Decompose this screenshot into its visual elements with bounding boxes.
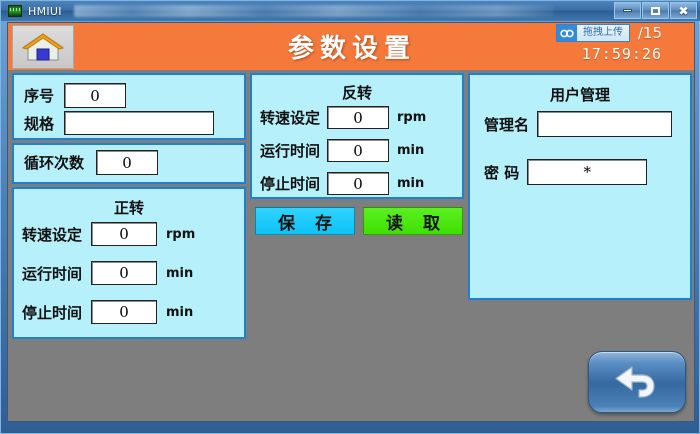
serial-number-input[interactable]: 0 (64, 83, 126, 108)
minimize-button[interactable] (614, 2, 641, 19)
save-button[interactable]: 保 存 (255, 207, 355, 235)
forward-rotation-title: 正转 (14, 197, 244, 218)
maximize-icon (651, 7, 660, 15)
close-button[interactable]: ✖ (670, 2, 697, 19)
window-title-secondary-blurred (74, 5, 554, 17)
panel-forward-rotation: 正转 转速设定 0 rpm 运行时间 0 min 停止时间 0 min (12, 187, 246, 339)
home-button[interactable] (12, 25, 74, 69)
baidu-cloud-icon (557, 25, 577, 41)
minimize-icon (623, 9, 632, 12)
reverse-runtime-input[interactable]: 0 (327, 139, 389, 162)
field-row-forward-stoptime: 停止时间 0 min (22, 300, 193, 324)
cycle-count-label: 循环次数 (24, 152, 84, 173)
drag-upload-label: 拖拽上传 (577, 25, 629, 41)
window-controls: ✖ (614, 2, 697, 19)
reverse-stoptime-label: 停止时间 (260, 173, 320, 194)
field-row-forward-runtime: 运行时间 0 min (22, 261, 193, 285)
forward-speed-input[interactable]: 0 (91, 222, 157, 246)
client-area: 参数设置 拖拽上传 /15 17:59:26 (7, 22, 695, 422)
hmi-header: 参数设置 拖拽上传 /15 17:59:26 (8, 23, 695, 70)
forward-runtime-input[interactable]: 0 (91, 261, 157, 285)
close-icon: ✖ (678, 5, 688, 17)
forward-speed-unit: rpm (166, 227, 195, 242)
field-row-password: 密 码 * (484, 159, 647, 185)
user-management-title: 用户管理 (470, 84, 690, 105)
clock: 17:59:26 (582, 45, 662, 63)
field-row-admin-name: 管理名 (484, 111, 672, 137)
maximize-button[interactable] (642, 2, 669, 19)
forward-stoptime-label: 停止时间 (22, 302, 82, 323)
reverse-runtime-unit: min (397, 143, 424, 158)
cycle-count-input[interactable]: 0 (96, 150, 158, 175)
field-row-cycle-count: 循环次数 0 (24, 150, 158, 175)
field-row-serial: 序号 0 (24, 83, 126, 108)
reverse-stoptime-input[interactable]: 0 (327, 172, 389, 195)
application-window: HMIUI ✖ 参数设置 (0, 0, 700, 434)
admin-name-input[interactable] (537, 111, 672, 137)
field-row-specification: 规格 (24, 111, 214, 135)
title-bar[interactable]: HMIUI ✖ (1, 1, 700, 21)
forward-speed-label: 转速设定 (22, 224, 82, 245)
panel-basic-info: 序号 0 规格 (12, 73, 246, 140)
field-row-reverse-speed: 转速设定 0 rpm (260, 106, 426, 129)
drag-upload-widget[interactable]: 拖拽上传 (556, 24, 630, 42)
page-indicator: /15 (638, 23, 662, 43)
specification-input[interactable] (64, 111, 214, 135)
reverse-runtime-label: 运行时间 (260, 140, 320, 161)
reverse-speed-unit: rpm (397, 110, 426, 125)
panel-cycle-count: 循环次数 0 (12, 143, 246, 184)
panel-user-management: 用户管理 管理名 密 码 * (468, 73, 692, 300)
back-arrow-icon (608, 361, 666, 403)
field-row-forward-speed: 转速设定 0 rpm (22, 222, 195, 246)
serial-number-label: 序号 (24, 85, 54, 106)
forward-runtime-label: 运行时间 (22, 263, 82, 284)
field-row-reverse-stoptime: 停止时间 0 min (260, 172, 424, 195)
forward-runtime-unit: min (166, 266, 193, 281)
password-input[interactable]: * (527, 159, 647, 185)
app-icon (8, 5, 22, 17)
forward-stoptime-input[interactable]: 0 (91, 300, 157, 324)
reverse-rotation-title: 反转 (252, 82, 462, 103)
field-row-reverse-runtime: 运行时间 0 min (260, 139, 424, 162)
password-label: 密 码 (484, 162, 519, 183)
admin-name-label: 管理名 (484, 114, 529, 135)
reverse-stoptime-unit: min (397, 176, 424, 191)
reverse-speed-input[interactable]: 0 (327, 106, 389, 129)
window-title: HMIUI (28, 5, 62, 18)
panel-reverse-rotation: 反转 转速设定 0 rpm 运行时间 0 min 停止时间 0 min (250, 73, 464, 199)
home-icon (22, 32, 64, 62)
back-button[interactable] (588, 351, 686, 413)
reverse-speed-label: 转速设定 (260, 107, 320, 128)
specification-label: 规格 (24, 113, 54, 134)
read-button[interactable]: 读 取 (363, 207, 463, 235)
forward-stoptime-unit: min (166, 305, 193, 320)
